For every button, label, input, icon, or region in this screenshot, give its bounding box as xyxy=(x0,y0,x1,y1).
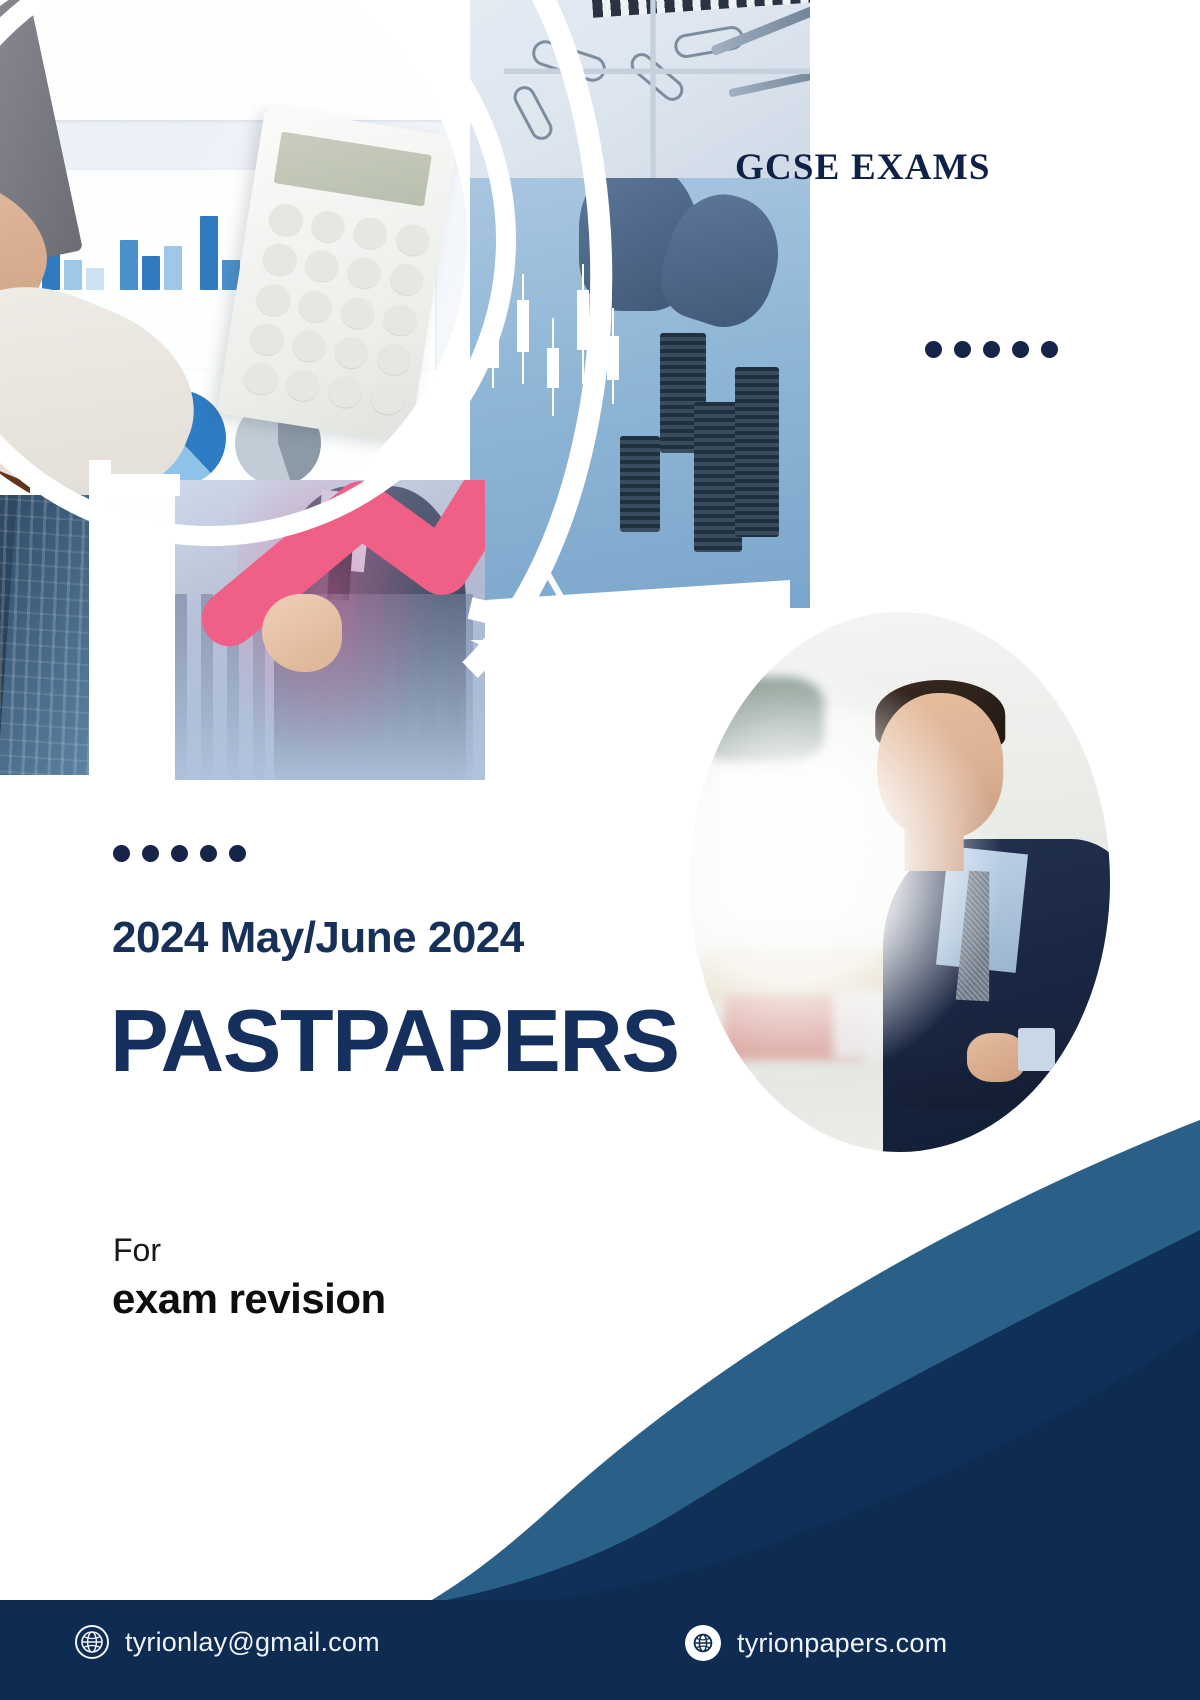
dot xyxy=(229,845,246,862)
globe-icon xyxy=(75,1625,109,1659)
dot xyxy=(983,341,1000,358)
dot xyxy=(171,845,188,862)
poster-page: FINANCE xyxy=(0,0,1200,1700)
photo-collage: FINANCE xyxy=(0,0,790,840)
page-eyebrow: GCSE EXAMS xyxy=(735,146,991,189)
collage-image-skyscraper xyxy=(0,495,100,775)
dot xyxy=(142,845,159,862)
globe-icon xyxy=(685,1625,721,1661)
decorative-dots-top xyxy=(925,341,1058,358)
footer-website-text: tyrionpapers.com xyxy=(737,1628,947,1659)
dot xyxy=(925,341,942,358)
footer-email-text: tyrionlay@gmail.com xyxy=(125,1627,380,1658)
dot xyxy=(1012,341,1029,358)
dot xyxy=(1041,341,1058,358)
poster-headline: PASTPAPERS xyxy=(110,990,679,1092)
poster-subtitle: 2024 May/June 2024 xyxy=(112,913,524,963)
decorative-dots-middle xyxy=(113,845,246,862)
portrait-photo xyxy=(690,612,1110,1152)
purpose-value: exam revision xyxy=(112,1275,386,1323)
purpose-label: For xyxy=(113,1232,161,1269)
dot xyxy=(200,845,217,862)
footer-website[interactable]: tyrionpapers.com xyxy=(685,1625,947,1661)
dot xyxy=(954,341,971,358)
footer-email[interactable]: tyrionlay@gmail.com xyxy=(75,1625,380,1659)
bottom-wave-shapes xyxy=(0,1080,1200,1700)
collage-image-growth-arrow xyxy=(175,480,485,780)
collage-image-stock-coins xyxy=(470,178,810,608)
dot xyxy=(113,845,130,862)
